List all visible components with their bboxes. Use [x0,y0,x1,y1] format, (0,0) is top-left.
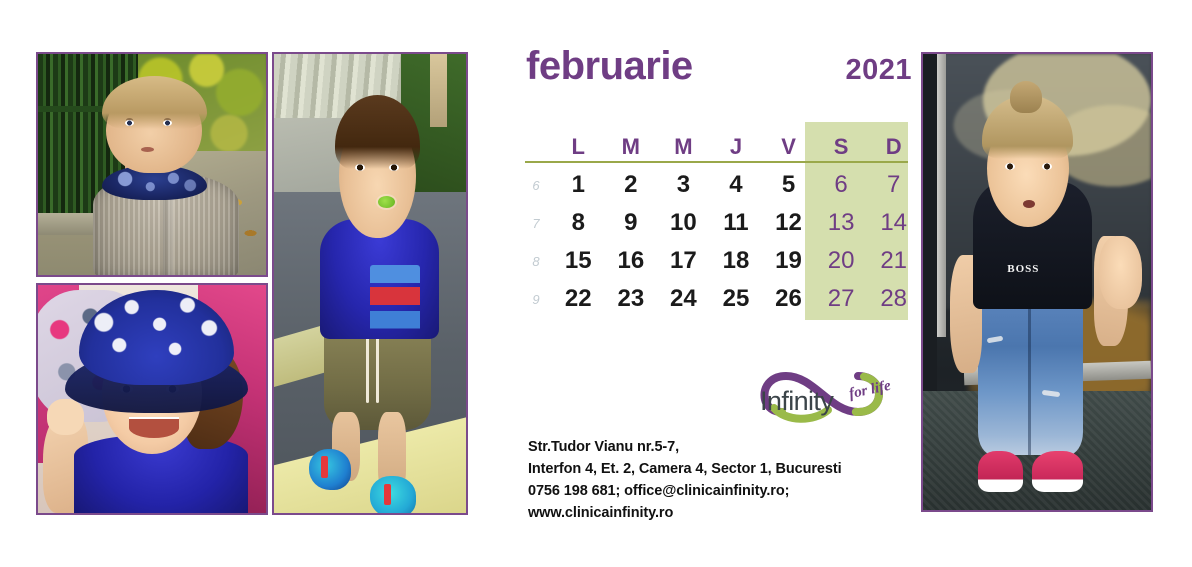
day-cell-sunday[interactable]: 21 [867,242,920,280]
day-cell[interactable]: 18 [710,242,763,280]
photo-top-left [36,52,268,277]
photo-center [272,52,468,515]
week-number: 8 [520,242,552,280]
wooden-post [430,54,447,127]
left-eye [355,164,365,171]
day-cell[interactable]: 25 [710,280,763,318]
open-hand [1099,236,1142,309]
day-cell[interactable]: 3 [657,166,710,204]
car-print [370,265,420,338]
day-cell-saturday[interactable]: 27 [815,280,868,318]
contact-address: Interfon 4, Et. 2, Camera 4, Sector 1, B… [528,458,928,480]
weekday-header-joi: J [710,128,763,166]
day-cell[interactable]: 19 [762,242,815,280]
boss-logo-text: BOSS [996,264,1051,287]
day-cell[interactable]: 8 [552,204,605,242]
day-cell[interactable]: 23 [605,280,658,318]
calendar-grid: L M M J V S D 6 1 2 3 4 5 6 7 7 8 [520,128,920,318]
left-sandal [309,449,351,490]
week-number: 9 [520,280,552,318]
weekday-header-duminica: D [867,128,920,166]
smiling-mouth [129,417,179,438]
child-hand [47,399,83,435]
week-number-header [520,128,552,166]
contact-website: www.clinicainfinity.ro [528,502,928,524]
day-cell[interactable]: 12 [762,204,815,242]
day-cell[interactable]: 4 [710,166,763,204]
contact-street: Str.Tudor Vianu nr.5-7, [528,436,928,458]
day-cell[interactable]: 11 [710,204,763,242]
day-cell[interactable]: 24 [657,280,710,318]
day-cell[interactable]: 26 [762,280,815,318]
day-cell[interactable]: 17 [657,242,710,280]
day-cell[interactable]: 2 [605,166,658,204]
day-cell[interactable]: 22 [552,280,605,318]
photo-right: BOSS [921,52,1153,512]
calendar: februarie 2021 L M M J V S D 6 1 2 3 4 [520,40,920,330]
week-number: 6 [520,166,552,204]
day-cell-sunday[interactable]: 28 [867,280,920,318]
calendar-week-row: 7 8 9 10 11 12 13 14 [520,204,920,242]
day-cell[interactable]: 9 [605,204,658,242]
day-cell-saturday[interactable]: 20 [815,242,868,280]
green-pacifier [378,196,395,208]
calendar-week-row: 9 22 23 24 25 26 27 28 [520,280,920,318]
day-cell[interactable]: 5 [762,166,815,204]
right-pink-sneaker [1032,451,1082,492]
infinity-logo[interactable]: Infinity for life [752,360,912,430]
left-pink-sneaker [978,451,1024,492]
contact-info: Str.Tudor Vianu nr.5-7, Interfon 4, Et. … [528,436,928,524]
photo-bottom-left [36,283,268,515]
day-cell[interactable]: 15 [552,242,605,280]
window-frame [937,54,946,337]
month-title: februarie [526,46,693,86]
shorts-drawstring [366,329,369,402]
mouth [141,147,154,152]
day-cell[interactable]: 1 [552,166,605,204]
right-sandal [370,476,416,513]
logo-wordmark: Infinity [760,388,833,415]
weekday-header-vineri: V [762,128,815,166]
day-cell-saturday[interactable]: 6 [815,166,868,204]
top-knot [1010,81,1042,113]
weekday-header-miercuri: M [657,128,710,166]
day-cell-sunday[interactable]: 7 [867,166,920,204]
weekday-header-sambata: S [815,128,868,166]
calendar-week-row: 8 15 16 17 18 19 20 21 [520,242,920,280]
day-cell[interactable]: 16 [605,242,658,280]
week-number: 7 [520,204,552,242]
day-cell-saturday[interactable]: 13 [815,204,868,242]
year-label: 2021 [845,56,912,85]
weekday-header-luni: L [552,128,605,166]
weekday-header-marti: M [605,128,658,166]
calendar-week-row: 6 1 2 3 4 5 6 7 [520,166,920,204]
weekday-header-row: L M M J V S D [520,128,920,166]
day-cell-sunday[interactable]: 14 [867,204,920,242]
contact-phone-email: 0756 198 681; office@clinicainfinity.ro; [528,480,928,502]
day-cell[interactable]: 10 [657,204,710,242]
ripped-jeans [978,291,1083,455]
